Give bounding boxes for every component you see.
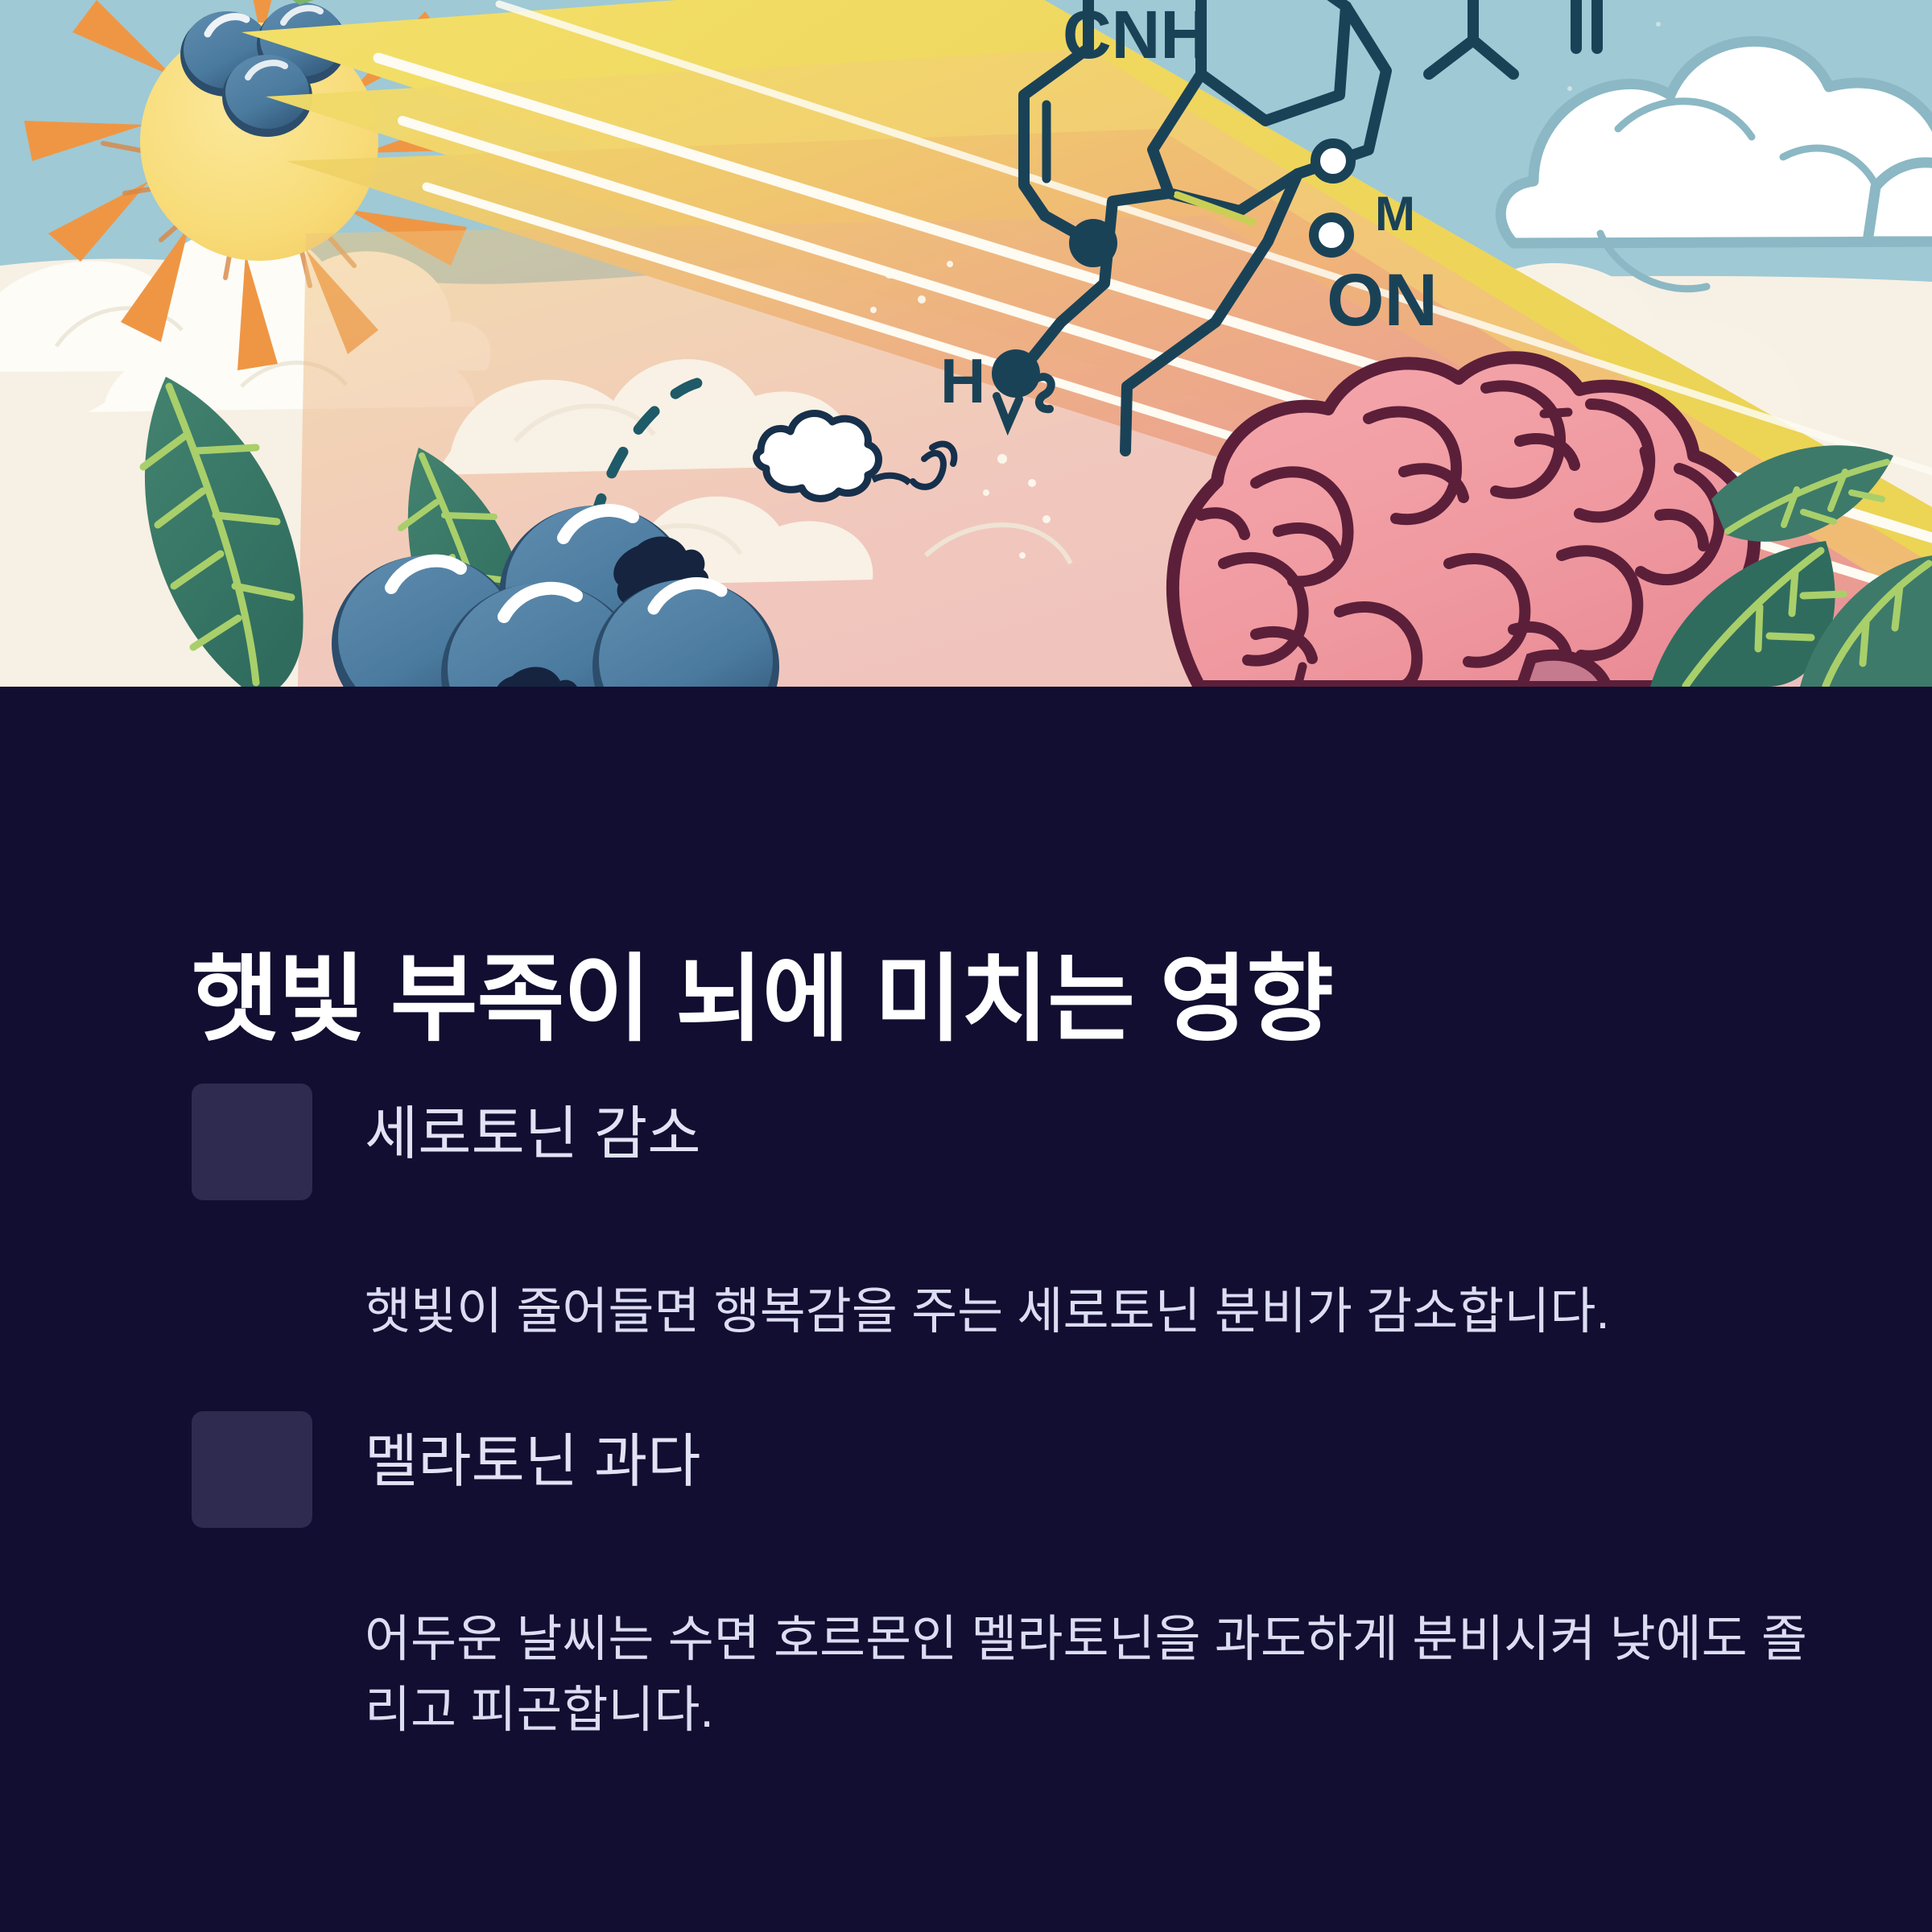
content-panel: 햇빛 부족이 뇌에 미치는 영향 세로토닌 감소 햇빛이 줄어들면 행복감을 주… — [0, 687, 1932, 1932]
bullet-description: 어두운 날씨는 수면 호르몬인 멜라토닌을 과도하게 분비시켜 낮에도 졸리고 … — [365, 1604, 1850, 1746]
molecule-label-m: M — [1375, 187, 1415, 241]
bullet-title: 멜라토닌 과다 — [365, 1429, 700, 1496]
molecule-label-on: ON — [1327, 259, 1438, 341]
bullet-header: 멜라토닌 과다 — [192, 1411, 1850, 1532]
bullet-description: 햇빛이 줄어들면 행복감을 주는 세로토닌 분비가 감소합니다. — [365, 1277, 1850, 1348]
infographic-card: CNH M ON H — [0, 0, 1932, 1932]
hero-illustration: CNH M ON H — [0, 0, 1932, 687]
list-item: 세로토닌 감소 햇빛이 줄어들면 행복감을 주는 세로토닌 분비가 감소합니다. — [192, 1084, 1850, 1204]
bullet-title: 세로토닌 감소 — [365, 1101, 700, 1168]
molecule-label-cnh: CNH — [1063, 0, 1209, 72]
list-item: 멜라토닌 과다 어두운 날씨는 수면 호르몬인 멜라토닌을 과도하게 분비시켜 … — [192, 1411, 1850, 1532]
accent-square-icon — [192, 1084, 312, 1200]
molecule-label-h: H — [940, 345, 985, 416]
accent-square-icon — [192, 1411, 312, 1528]
bullet-header: 세로토닌 감소 — [192, 1084, 1850, 1204]
page-title: 햇빛 부족이 뇌에 미치는 영향 — [192, 946, 1333, 1055]
hero-svg: CNH M ON H — [0, 0, 1932, 687]
